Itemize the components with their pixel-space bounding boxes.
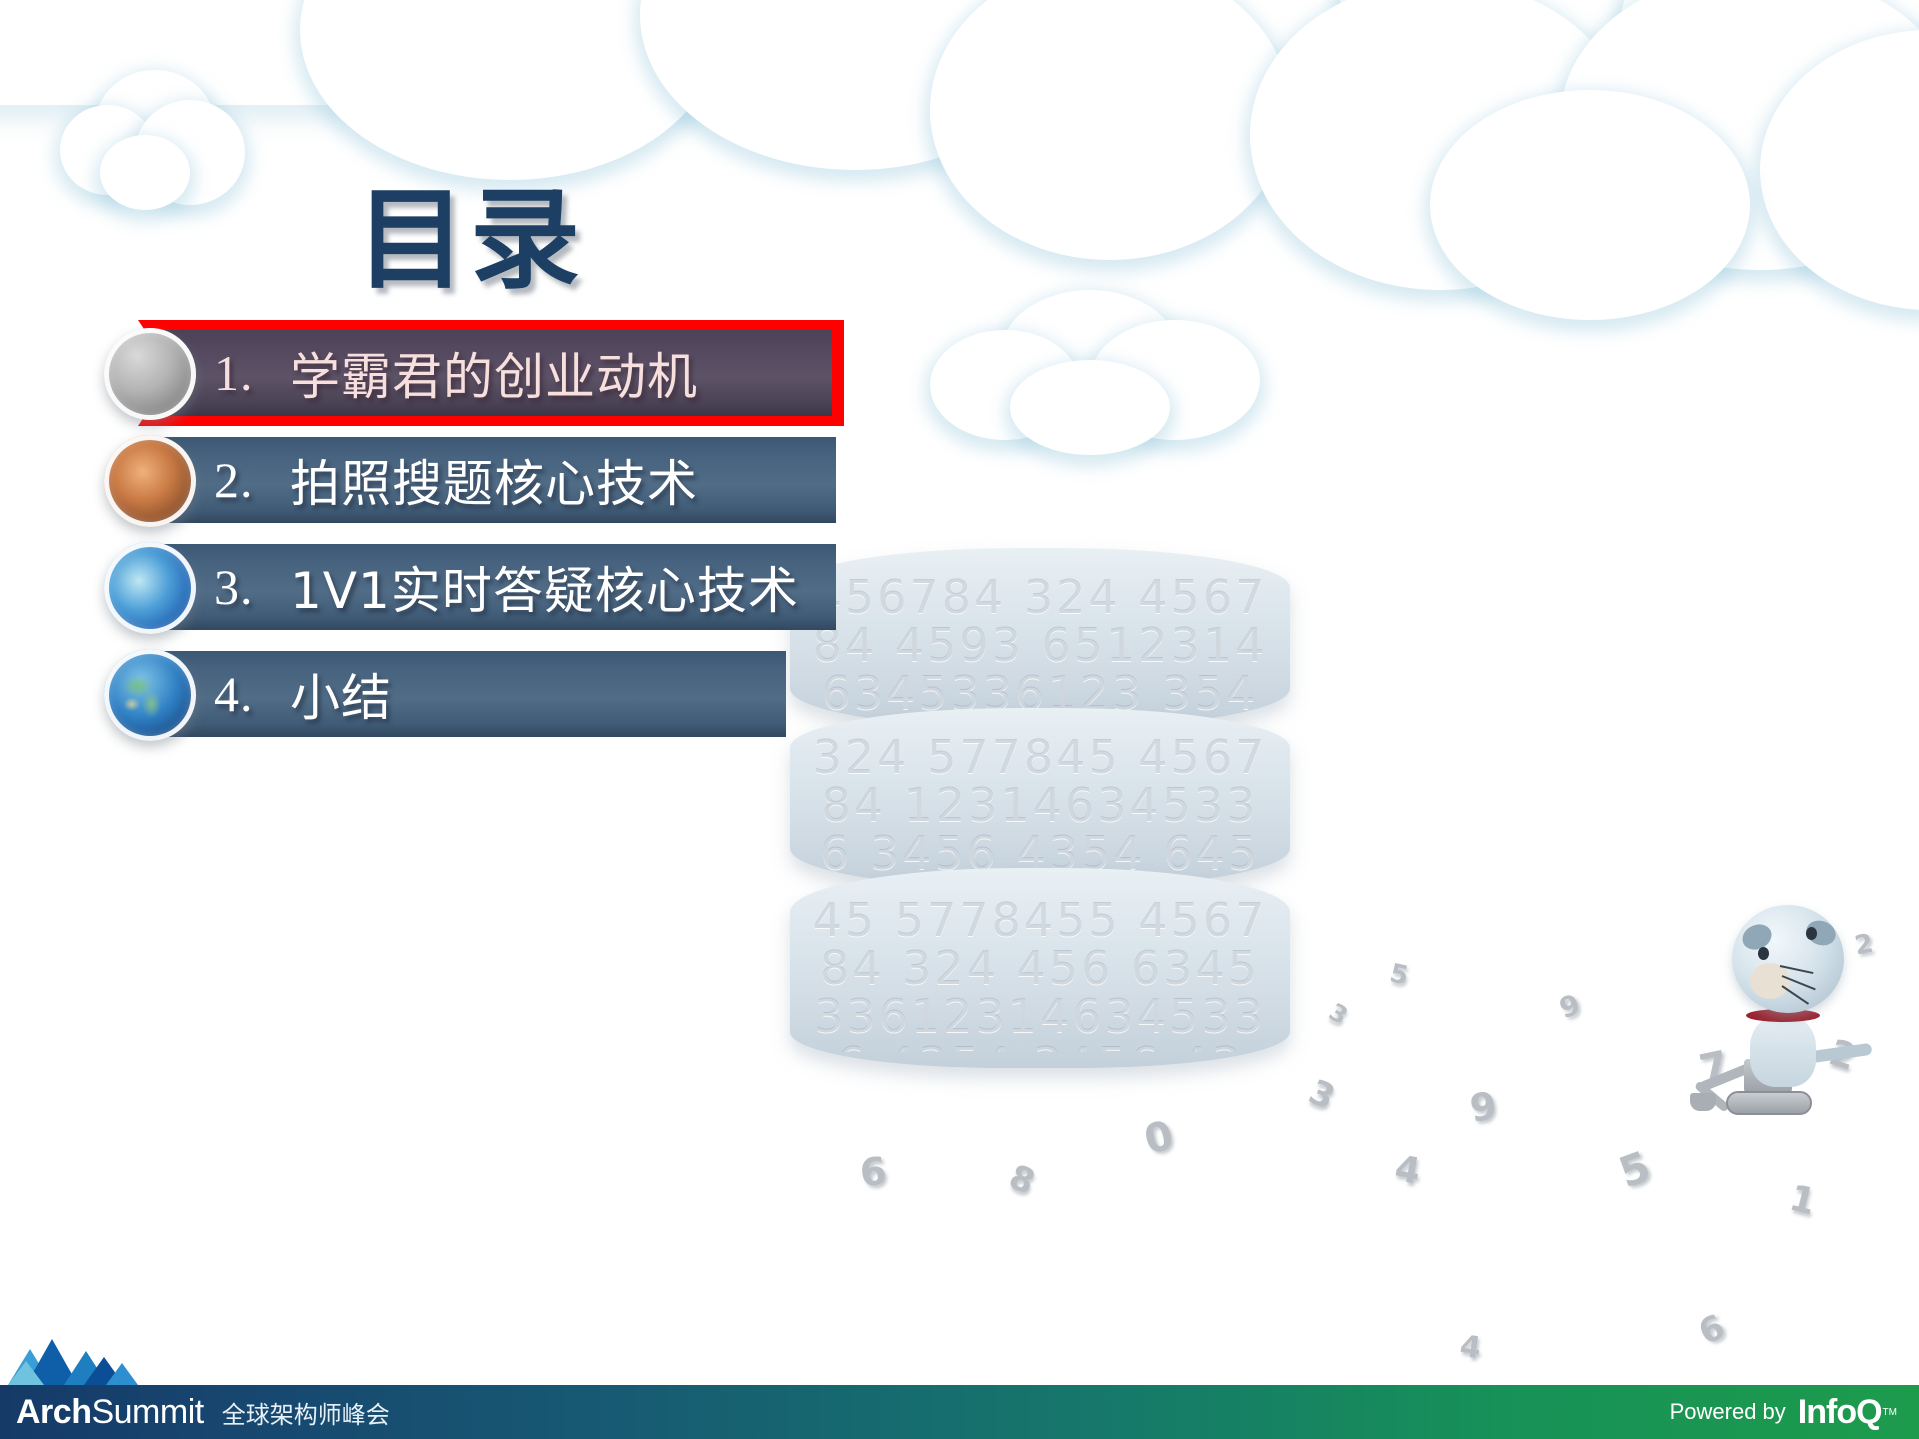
agenda-item-bar[interactable]: 3. 1V1实时答疑核心技术 [146, 544, 836, 630]
ground-digit: 0 [1140, 1112, 1179, 1164]
database-disc: 45 5778455 456784 324 456 63453361231463… [790, 868, 1290, 1068]
cloud-shape [1430, 90, 1750, 320]
powered-by-group: Powered by InfoQTM [1670, 1393, 1897, 1432]
agenda-item-label: 1V1实时答疑核心技术 [290, 551, 799, 623]
agenda-item-3[interactable]: 3. 1V1实时答疑核心技术 [0, 536, 900, 643]
archsummit-mountain-logo-icon [8, 1339, 138, 1385]
ground-digit: 1 [1785, 1178, 1819, 1224]
brand-chinese-text: 全球架构师峰会 [222, 1395, 390, 1430]
cloud-shape [930, 330, 1080, 440]
neptune-sphere-icon [104, 542, 196, 634]
archsummit-brand: ArchSummit 全球架构师峰会 [16, 1393, 390, 1432]
cloud-shape [930, 0, 1290, 260]
cloud-shape [1090, 320, 1260, 440]
ground-digit: 5 [1387, 958, 1411, 991]
cloud-shape [1760, 30, 1919, 310]
agenda-item-number: 1. [214, 344, 276, 402]
cat-tail [1809, 1043, 1872, 1064]
agenda-item-2[interactable]: 2. 拍照搜题核心技术 [0, 429, 900, 536]
page-title: 目录 [0, 150, 940, 310]
ground-digit: 5 [1613, 1141, 1657, 1197]
ground-digit: 8 [1003, 1157, 1040, 1203]
agenda-item-1[interactable]: 1. 学霸君的创业动机 [0, 322, 900, 429]
ground-digit: 4 [1458, 1329, 1484, 1367]
ground-digit: 3 [1303, 1072, 1341, 1118]
cloud-shape [1620, 0, 1919, 180]
footer-bar: ArchSummit 全球架构师峰会 Powered by InfoQTM [0, 1385, 1919, 1439]
brand-arch-text: Arch [16, 1393, 91, 1432]
presentation-slide: 目录 1. 学霸君的创业动机 2. 拍照搜题核心技术 3. 1V1实时答疑核心 [0, 0, 1919, 1439]
infoq-trademark: TM [1883, 1407, 1897, 1418]
disc-digits: 324 577845 456784 123146345336 3456 4354… [810, 733, 1270, 873]
infoq-logo-text: InfoQ [1798, 1393, 1882, 1432]
agenda-item-bar[interactable]: 4. 小结 [146, 651, 786, 737]
agenda-item-number: 2. [214, 451, 276, 509]
ground-digit: 4 [1392, 1148, 1424, 1193]
agenda-item-number: 3. [214, 558, 276, 616]
mars-sphere-icon [104, 435, 196, 527]
robot-cat-mascot [1690, 905, 1880, 1120]
agenda-item-label: 小结 [290, 658, 392, 730]
agenda-list: 1. 学霸君的创业动机 2. 拍照搜题核心技术 3. 1V1实时答疑核心技术 4… [0, 322, 900, 750]
cloud-shape [1000, 290, 1180, 420]
cloud-shape [1340, 0, 1780, 170]
agenda-item-bar[interactable]: 1. 学霸君的创业动机 [146, 330, 832, 416]
powered-by-label: Powered by [1670, 1399, 1786, 1425]
cat-head [1732, 905, 1844, 1013]
disc-digits: 45 5778455 456784 324 456 63453361231463… [810, 896, 1270, 1052]
cloud-shape [1010, 360, 1170, 455]
cat-ear-left-icon [1738, 920, 1775, 954]
cat-eye-left-icon [1758, 947, 1769, 960]
cat-body [1750, 1015, 1816, 1087]
ground-digit: 9 [1555, 988, 1584, 1025]
ground-digit: 9 [1467, 1083, 1499, 1130]
excavator-bucket [1690, 1093, 1716, 1111]
ground-digit: 6 [1693, 1307, 1731, 1353]
cloud-shape [640, 0, 1070, 170]
agenda-item-label: 学霸君的创业动机 [290, 337, 698, 409]
cloud-shape [1000, 0, 1430, 170]
cloud-band-top [0, 0, 1919, 105]
cloud-shape [1560, 0, 1919, 270]
agenda-item-4[interactable]: 4. 小结 [0, 643, 900, 750]
cloud-shape [1250, 0, 1630, 290]
ground-digit: 6 [858, 1149, 889, 1196]
agenda-item-bar[interactable]: 2. 拍照搜题核心技术 [146, 437, 836, 523]
moon-sphere-icon [104, 328, 196, 420]
earth-sphere-icon [104, 649, 196, 741]
brand-summit-text: Summit [91, 1393, 203, 1432]
cat-muzzle [1750, 963, 1790, 999]
agenda-item-label: 拍照搜题核心技术 [290, 444, 698, 516]
cat-whisker [1781, 985, 1809, 1005]
agenda-item-number: 4. [214, 665, 276, 723]
excavator-track [1726, 1091, 1812, 1115]
cat-eye-right-icon [1806, 927, 1817, 940]
